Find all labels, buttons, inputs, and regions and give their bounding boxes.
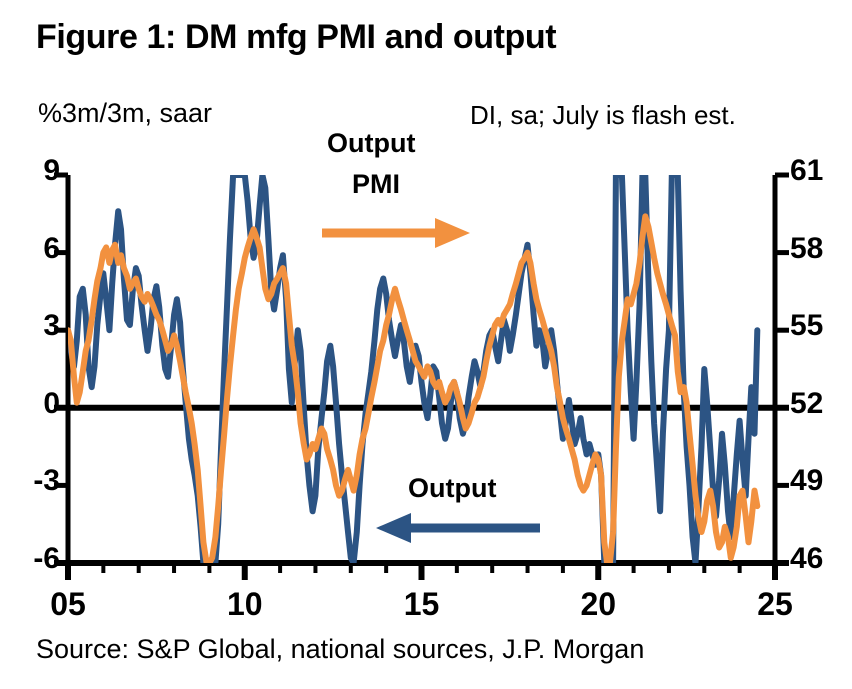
figure-container: Figure 1: DM mfg PMI and output %3m/3m, …	[0, 0, 852, 689]
x-axis-tick-label: 05	[33, 586, 103, 623]
right-axis-tick-label: 52	[790, 387, 846, 421]
right-axis-tick-label: 55	[790, 309, 846, 343]
right-axis-tick-label: 58	[790, 232, 846, 266]
x-axis-tick-label: 15	[387, 586, 457, 623]
x-axis-tick-label: 10	[210, 586, 280, 623]
x-axis-tick-label: 20	[563, 586, 633, 623]
right-axis-tick-label: 61	[790, 154, 846, 188]
left-axis-tick-label: 0	[8, 387, 60, 421]
x-axis-tick-label: 25	[740, 586, 810, 623]
left-axis-tick-label: -6	[8, 542, 60, 576]
left-axis-tick-label: 6	[8, 232, 60, 266]
left-axis-tick-label: -3	[8, 464, 60, 498]
left-axis-tick-label: 3	[8, 309, 60, 343]
output-arrow-head	[376, 513, 411, 543]
right-axis-tick-label: 49	[790, 464, 846, 498]
left-axis-tick-label: 9	[8, 154, 60, 188]
right-axis-tick-label: 46	[790, 542, 846, 576]
pmi-arrow-head	[435, 218, 470, 248]
